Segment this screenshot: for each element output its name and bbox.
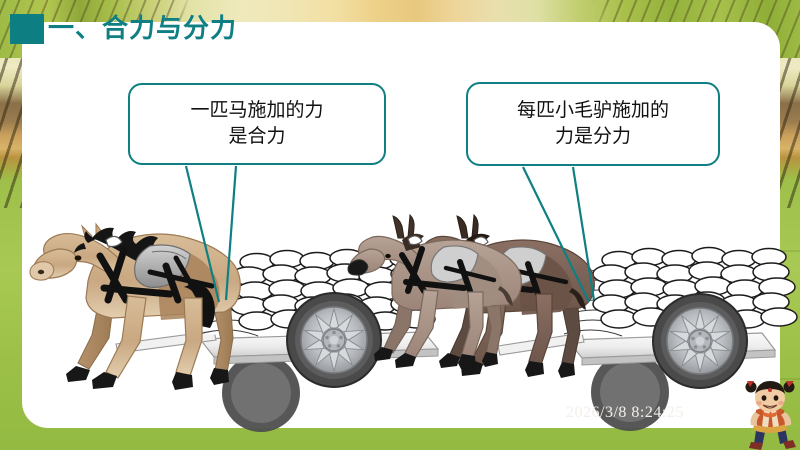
- callout-donkeys-line1: 每匹小毛驴施加的: [517, 98, 669, 124]
- callout-horse-line1: 一匹马施加的力: [190, 98, 323, 124]
- timestamp-watermark: 2026/3/8 8:24:25: [566, 404, 684, 422]
- callout-horse-line2: 是合力: [190, 124, 323, 150]
- title-bullet-square: [10, 14, 44, 44]
- page-title: 一、合力与分力: [48, 12, 237, 44]
- callout-donkeys-line2: 力是分力: [517, 124, 669, 150]
- slide-root: 一、合力与分力: [0, 0, 800, 450]
- callout-horse[interactable]: 一匹马施加的力 是合力: [128, 83, 386, 165]
- callout-donkeys[interactable]: 每匹小毛驴施加的 力是分力: [466, 82, 720, 166]
- horse: [30, 224, 240, 390]
- illustration-scene: [0, 0, 800, 450]
- mascot-character: [742, 378, 798, 450]
